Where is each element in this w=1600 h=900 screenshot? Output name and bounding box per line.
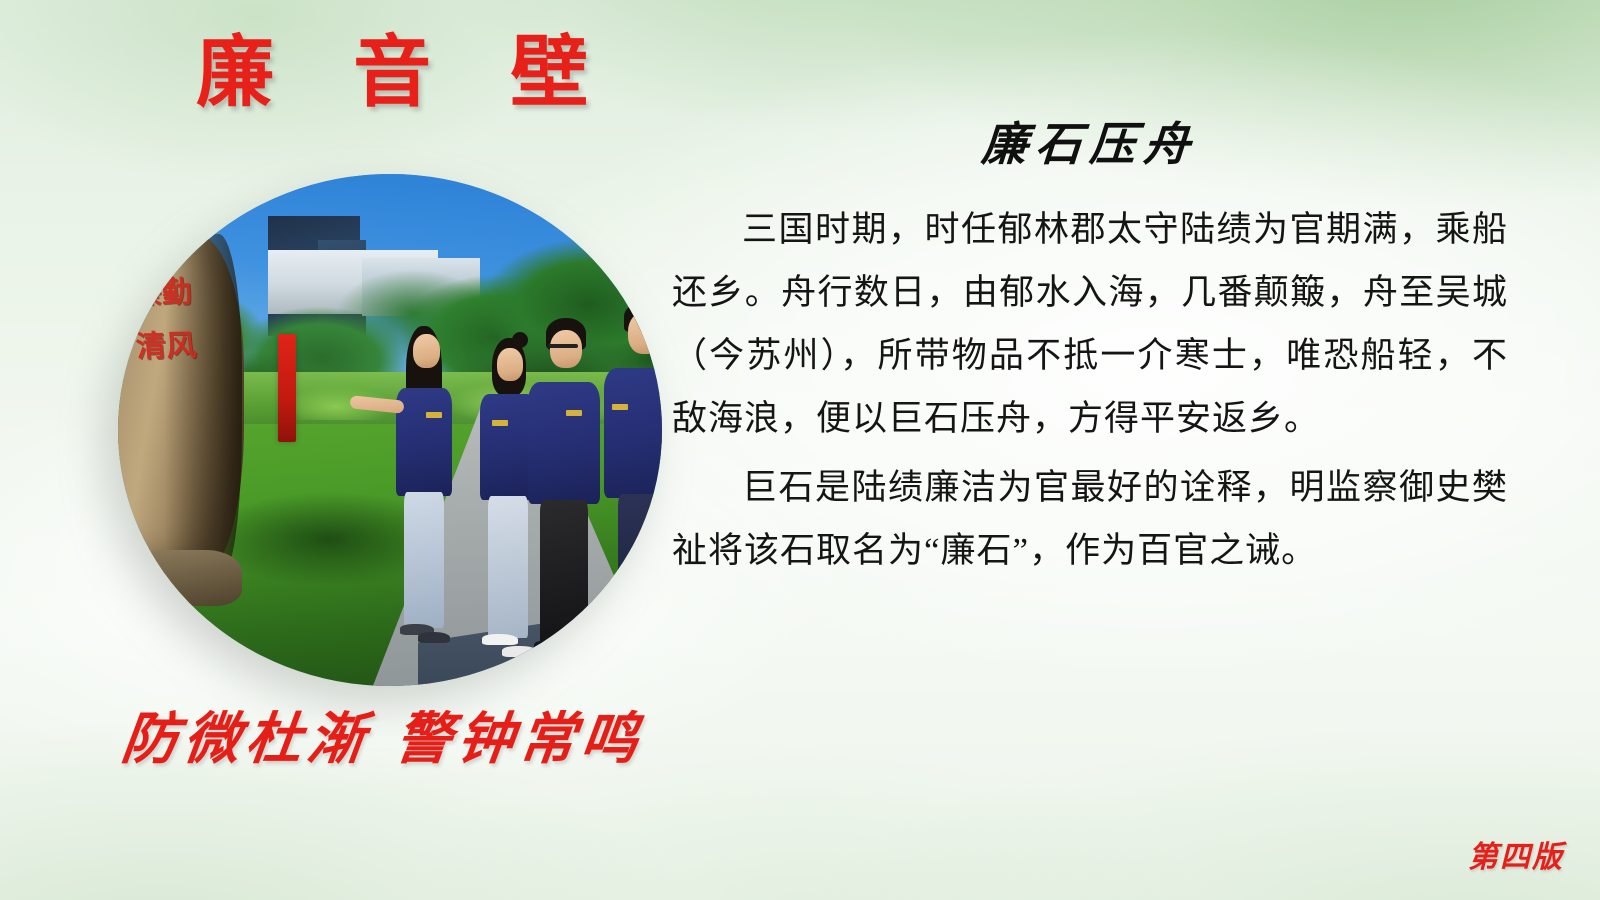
photo-person-4 bbox=[600, 302, 662, 652]
photo-person-3-shoe-left bbox=[534, 640, 574, 651]
photo-person-2-head bbox=[497, 348, 523, 381]
photo-person-3 bbox=[522, 318, 612, 672]
photo-person-4-badge bbox=[612, 404, 628, 410]
photo-person-1-jeans bbox=[404, 492, 444, 628]
circular-photo: 廉勤清风 bbox=[118, 174, 662, 686]
photo-person-3-uniform bbox=[528, 382, 600, 504]
bottom-slogan: 防微杜渐 警钟常鸣 bbox=[118, 706, 648, 773]
photo-person-3-glasses bbox=[548, 344, 578, 348]
photo-person-1 bbox=[386, 326, 462, 656]
photo-red-banner bbox=[278, 334, 296, 442]
article-title: 廉石压舟 bbox=[670, 108, 1511, 174]
photo-person-3-shoe-right bbox=[556, 652, 596, 663]
photo-person-3-head bbox=[550, 330, 582, 368]
photo-person-2-shoe-left bbox=[482, 634, 518, 645]
photo-person-4-head bbox=[628, 312, 662, 354]
page-number-badge: 第四版 bbox=[1468, 832, 1564, 876]
newspaper-page: 廉 音 壁 廉勤清风 bbox=[0, 0, 1600, 900]
photo-person-2-badge bbox=[492, 420, 508, 426]
photo-figure: 廉勤清风 bbox=[118, 174, 662, 686]
photo-person-1-badge bbox=[426, 412, 442, 418]
photo-person-1-uniform bbox=[396, 388, 452, 496]
photo-person-1-head bbox=[413, 334, 440, 368]
photo-person-4-trousers bbox=[618, 494, 662, 644]
photo-stone-base bbox=[122, 550, 242, 606]
photo-person-3-trousers bbox=[540, 500, 588, 646]
masthead-title: 廉 音 壁 bbox=[196, 34, 614, 112]
photo-person-3-badge bbox=[566, 410, 582, 416]
article-paragraph-1: 三国时期，时任郁林郡太守陆绩为官期满，乘船还乡。舟行数日，由郁水入海，几番颠簸，… bbox=[672, 198, 1508, 450]
photo-person-1-shoe-right bbox=[418, 632, 450, 643]
photo-person-4-uniform bbox=[604, 368, 662, 498]
article-paragraph-2: 巨石是陆绩廉洁为官最好的诠释，明监察御史樊祉将该石取名为“廉石”，作为百官之诫。 bbox=[672, 456, 1508, 582]
article: 廉石压舟 三国时期，时任郁林郡太守陆绩为官期满，乘船还乡。舟行数日，由郁水入海，… bbox=[672, 108, 1508, 588]
